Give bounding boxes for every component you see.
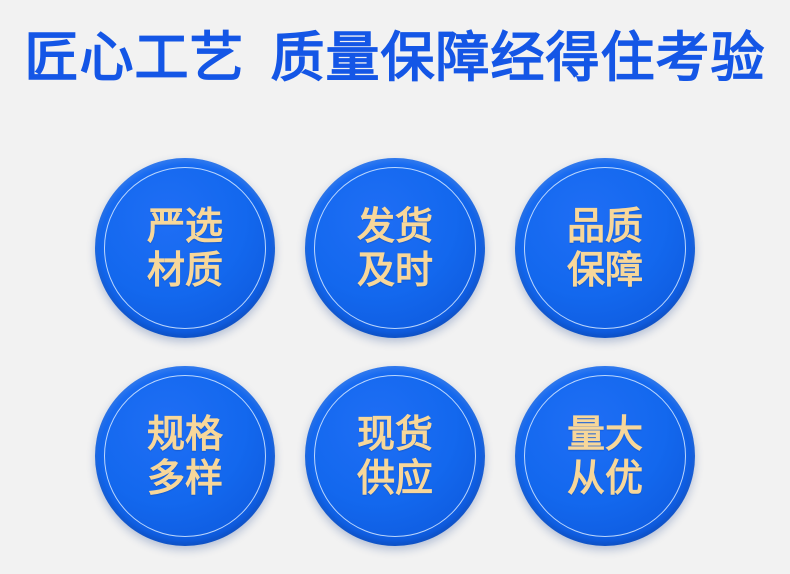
- badge-label-line2: 保障: [567, 248, 643, 292]
- badge-label-line1: 规格: [147, 412, 223, 456]
- badge-label: 严选 材质: [147, 204, 223, 292]
- badge-label: 现货 供应: [357, 412, 433, 500]
- badge-label-line1: 量大: [567, 412, 643, 456]
- badge-label: 量大 从优: [567, 412, 643, 500]
- badge-label-line1: 现货: [357, 412, 433, 456]
- page-title-part-1: 匠心工艺: [25, 26, 245, 89]
- badge-label: 品质 保障: [567, 204, 643, 292]
- page-title: 匠心工艺质量保障经得住考验: [0, 26, 790, 90]
- badge-label-line2: 及时: [357, 248, 433, 292]
- badge-label: 发货 及时: [357, 204, 433, 292]
- feature-badge-in-stock-supply: 现货 供应: [305, 366, 485, 546]
- feature-badge-grid: 严选 材质 发货 及时 品质 保障 规格 多样 现货 供: [95, 158, 695, 558]
- promo-banner: 匠心工艺质量保障经得住考验 严选 材质 发货 及时 品质 保障 规格 多样: [0, 0, 790, 574]
- page-title-part-2: 质量保障经得住考验: [271, 26, 766, 89]
- badge-label-line1: 发货: [357, 204, 433, 248]
- badge-label: 规格 多样: [147, 412, 223, 500]
- badge-label-line1: 品质: [567, 204, 643, 248]
- badge-label-line2: 供应: [357, 456, 433, 500]
- feature-badge-various-specs: 规格 多样: [95, 366, 275, 546]
- badge-label-line2: 多样: [147, 456, 223, 500]
- badge-label-line1: 严选: [147, 204, 223, 248]
- feature-badge-bulk-discount: 量大 从优: [515, 366, 695, 546]
- feature-badge-timely-shipping: 发货 及时: [305, 158, 485, 338]
- feature-badge-quality-guarantee: 品质 保障: [515, 158, 695, 338]
- badge-label-line2: 从优: [567, 456, 643, 500]
- badge-label-line2: 材质: [147, 248, 223, 292]
- feature-badge-selected-material: 严选 材质: [95, 158, 275, 338]
